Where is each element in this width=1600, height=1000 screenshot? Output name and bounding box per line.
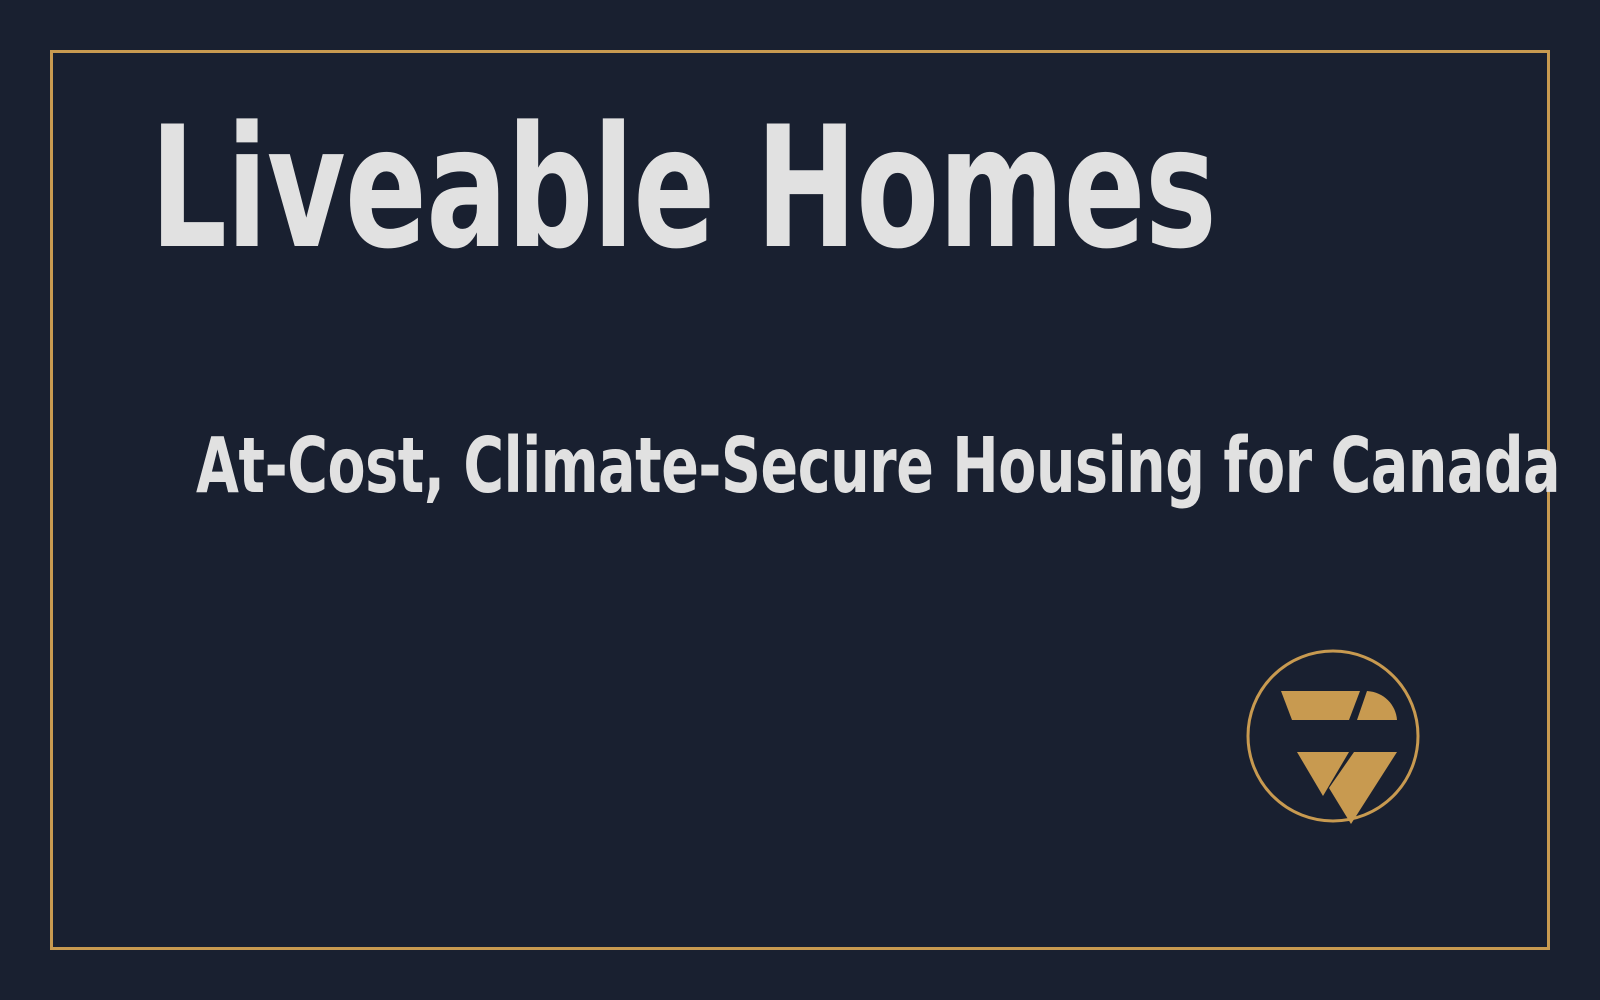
logo-circle-outline [1248,651,1418,821]
page-subtitle: At-Cost, Climate-Secure Housing for Cana… [196,428,1252,505]
brand-logo-icon [1245,648,1421,824]
logo-corner-wedge [1357,691,1397,720]
subtitle-block: At-Cost, Climate-Secure Housing for Cana… [196,428,1516,505]
title-block: Liveable Homes [150,104,1450,272]
brand-logo-svg [1245,648,1421,824]
logo-top-bar [1281,691,1360,720]
page-title: Liveable Homes [150,104,1190,272]
title-slide: Liveable Homes At-Cost, Climate-Secure H… [0,0,1600,1000]
